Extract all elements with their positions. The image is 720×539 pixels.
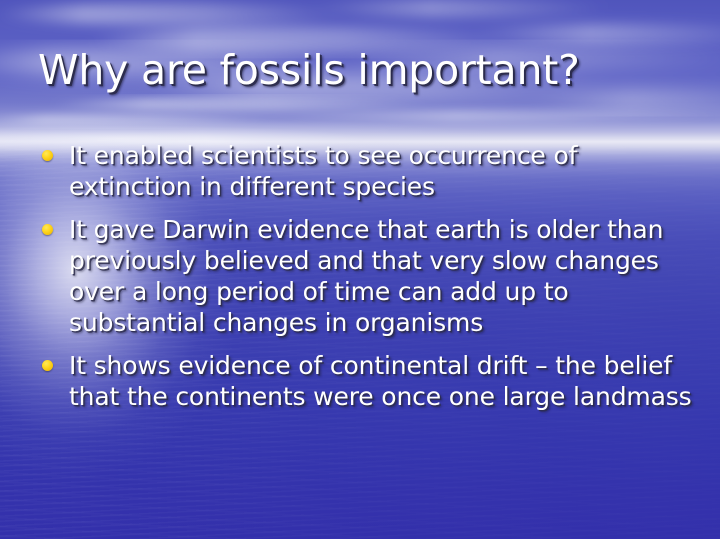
- list-item: It enabled scientists to see occurrence …: [38, 140, 698, 202]
- slide-title: Why are fossils important?: [38, 45, 688, 95]
- bullet-dot-icon: [42, 360, 53, 371]
- list-item-text: It shows evidence of continental drift –…: [69, 350, 698, 412]
- list-item-text: It gave Darwin evidence that earth is ol…: [69, 214, 698, 338]
- list-item: It shows evidence of continental drift –…: [38, 350, 698, 412]
- list-item: It gave Darwin evidence that earth is ol…: [38, 214, 698, 338]
- presentation-slide: Why are fossils important? It enabled sc…: [0, 0, 720, 539]
- list-item-text: It enabled scientists to see occurrence …: [69, 140, 698, 202]
- bullet-list: It enabled scientists to see occurrence …: [38, 140, 698, 424]
- bullet-dot-icon: [42, 224, 53, 235]
- slide-content: Why are fossils important? It enabled sc…: [0, 0, 720, 539]
- bullet-dot-icon: [42, 150, 53, 161]
